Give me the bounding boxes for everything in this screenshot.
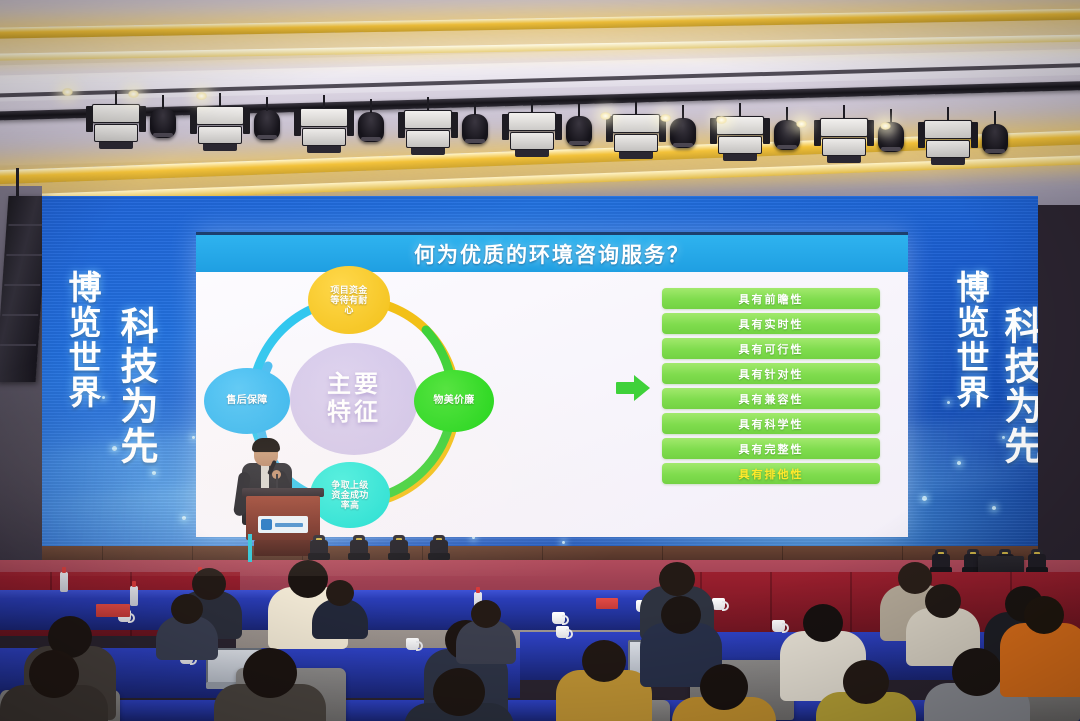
moving-head-light bbox=[388, 534, 410, 560]
attribute-bar: 具有可行性 bbox=[662, 338, 880, 359]
attribute-bar-label: 具有兼容性 bbox=[739, 391, 804, 407]
stage-floodlight bbox=[924, 120, 972, 165]
attribute-bar-label: 具有针对性 bbox=[739, 366, 804, 382]
audience-table bbox=[0, 700, 1080, 721]
coffee-mug bbox=[406, 638, 419, 650]
moving-head-light bbox=[308, 534, 330, 560]
stage-floodlight bbox=[300, 108, 348, 153]
audience-member-head bbox=[659, 562, 695, 596]
audience-member bbox=[0, 650, 108, 721]
par-can-light bbox=[254, 110, 280, 139]
par-can-light bbox=[982, 124, 1008, 153]
diagram-center-node: 主要特征 bbox=[290, 343, 418, 455]
attribute-bar-label: 具有完整性 bbox=[739, 441, 804, 457]
recessed-downlight bbox=[62, 88, 73, 96]
recessed-downlight bbox=[128, 90, 139, 98]
diagram-node-left: 售后保障 bbox=[204, 368, 290, 434]
diagram-node-top: 项目资金等待有耐心 bbox=[308, 266, 390, 334]
par-can-light bbox=[670, 118, 696, 147]
led-banner-left-line1: 博览世界 bbox=[66, 270, 99, 410]
recessed-downlight bbox=[196, 92, 207, 100]
diagram-node-top-label: 项目资金等待有耐心 bbox=[330, 285, 367, 315]
audience-member bbox=[404, 668, 514, 721]
stage-floodlight bbox=[612, 114, 660, 159]
attribute-bar-label: 具有前瞻性 bbox=[739, 291, 804, 307]
lectern-accent-stripe bbox=[248, 534, 252, 562]
lectern-base bbox=[254, 540, 312, 556]
audience-member-head bbox=[171, 594, 203, 624]
audience-member-head bbox=[29, 650, 79, 698]
attribute-bar: 具有兼容性 bbox=[662, 388, 880, 409]
attribute-bar: 具有排他性 bbox=[662, 463, 880, 484]
par-can-light bbox=[358, 112, 384, 141]
recessed-downlight bbox=[600, 112, 611, 120]
attribute-bar: 具有实时性 bbox=[662, 313, 880, 334]
attribute-bar: 具有完整性 bbox=[662, 438, 880, 459]
moving-head-light bbox=[1026, 548, 1048, 574]
cove-light-strip bbox=[0, 8, 1080, 40]
attribute-bar-label: 具有科学性 bbox=[739, 416, 804, 432]
organization-logo-icon bbox=[261, 519, 272, 530]
audience-member-head bbox=[925, 584, 961, 618]
audience-member bbox=[156, 594, 218, 668]
audience-member-head bbox=[582, 640, 626, 682]
stage-floodlight bbox=[92, 104, 140, 149]
attribute-bar-label: 具有排他性 bbox=[739, 466, 804, 482]
attribute-bar-label: 具有可行性 bbox=[739, 341, 804, 357]
audience-member-head bbox=[661, 596, 701, 634]
coffee-mug bbox=[552, 612, 565, 624]
audience-member-head bbox=[471, 600, 501, 628]
audience-member bbox=[556, 640, 652, 721]
audience-member-head bbox=[843, 660, 889, 704]
recessed-downlight bbox=[796, 120, 807, 128]
conference-photo: 博览世界 科技为先 博览世界 科技为先 何为优质的环境咨询服务？ 主要特征 项目… bbox=[0, 0, 1080, 721]
coffee-mug bbox=[556, 626, 569, 638]
stage-floodlight bbox=[404, 110, 452, 155]
moving-head-light bbox=[428, 534, 450, 560]
attribute-bar: 具有前瞻性 bbox=[662, 288, 880, 309]
recessed-downlight bbox=[880, 122, 891, 130]
attribute-bar: 具有针对性 bbox=[662, 363, 880, 384]
water-bottle bbox=[130, 586, 138, 606]
presenter-shirt bbox=[261, 465, 269, 489]
attribute-bar-label: 具有实时性 bbox=[739, 316, 804, 332]
par-can-light bbox=[462, 114, 488, 143]
ceiling bbox=[0, 0, 1080, 205]
presenter-hair bbox=[252, 438, 280, 452]
audience-member bbox=[816, 660, 916, 721]
table-nameplate bbox=[596, 598, 618, 609]
audience-member bbox=[1000, 596, 1080, 708]
recessed-downlight bbox=[660, 114, 671, 122]
audience-member-head bbox=[433, 668, 485, 716]
moving-head-light bbox=[348, 534, 370, 560]
audience-member bbox=[456, 600, 516, 672]
recessed-downlight bbox=[716, 116, 727, 124]
audience-member bbox=[672, 664, 776, 721]
audience-member bbox=[312, 580, 368, 646]
audience-member-head bbox=[243, 648, 297, 698]
attribute-bar-list: 具有前瞻性具有实时性具有可行性具有针对性具有兼容性具有科学性具有完整性具有排他性 bbox=[662, 288, 880, 488]
diagram-node-right-label: 物美价廉 bbox=[433, 395, 474, 406]
organization-name-text bbox=[275, 523, 303, 527]
slide-title-text: 何为优质的环境咨询服务？ bbox=[414, 239, 690, 269]
audience-member-head bbox=[326, 580, 354, 606]
stage-floodlight bbox=[196, 106, 244, 151]
audience-member-head bbox=[803, 604, 843, 642]
par-can-light bbox=[150, 108, 176, 137]
diagram-node-bottom-label: 争取上级资金成功率高 bbox=[331, 480, 368, 510]
slide-title-bar: 何为优质的环境咨询服务？ bbox=[196, 235, 908, 272]
lectern-logo-plate bbox=[258, 516, 308, 533]
audience-member-head bbox=[700, 664, 748, 710]
water-bottle bbox=[60, 572, 68, 592]
diagram-node-right: 物美价廉 bbox=[414, 370, 494, 432]
diagram-node-left-label: 售后保障 bbox=[226, 395, 267, 406]
led-banner-right-line1: 博览世界 bbox=[954, 270, 987, 410]
flow-arrow-icon bbox=[616, 375, 650, 401]
attribute-bar: 具有科学性 bbox=[662, 413, 880, 434]
stage-floodlight bbox=[820, 118, 868, 163]
audience-member-body bbox=[1000, 623, 1080, 697]
audience-member-head bbox=[952, 648, 1002, 696]
led-banner-left-line2: 科技为先 bbox=[116, 306, 154, 466]
stage-floodlight bbox=[508, 112, 556, 157]
par-can-light bbox=[566, 116, 592, 145]
audience-member-head bbox=[1024, 596, 1064, 634]
audience-member bbox=[214, 648, 326, 721]
diagram-center-label: 主要特征 bbox=[327, 371, 381, 428]
led-banner-right-line2: 科技为先 bbox=[1000, 306, 1038, 466]
